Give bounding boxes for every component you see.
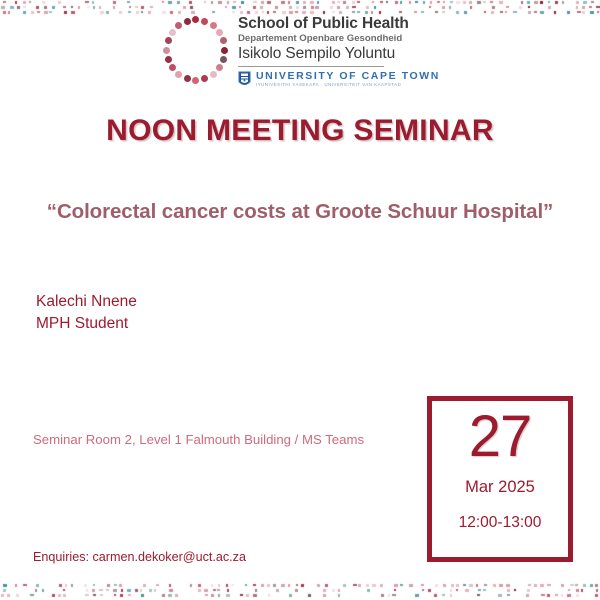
confetti-canvas-bottom	[0, 583, 600, 600]
page-title: NOON MEETING SEMINAR	[0, 114, 600, 148]
uct-name-label: UNIVERSITY OF CAPE TOWN	[256, 71, 440, 82]
seminar-poster: School of Public Health Departement Open…	[0, 0, 600, 600]
date-month-year: Mar 2025	[465, 478, 535, 497]
header-logo-block: School of Public Health Departement Open…	[0, 14, 600, 88]
sph-name-xhosa: Isikolo Sempilo Yoluntu	[238, 45, 440, 62]
logo-divider	[238, 66, 384, 67]
uct-subtitle-label: IYUNIVESITHI YASEKAPA · UNIVERSITEIT VAN…	[256, 83, 440, 87]
speaker-affiliation: MPH Student	[36, 313, 137, 335]
sph-name-afrikaans: Departement Openbare Gesondheid	[238, 33, 440, 45]
date-box: 27 Mar 2025 12:00-13:00	[427, 396, 573, 562]
enquiries-text: Enquiries: carmen.dekoker@uct.ac.za	[33, 550, 246, 564]
dot-ring-icon	[160, 14, 232, 86]
sph-name-english: School of Public Health	[238, 16, 440, 33]
uct-logo-row: UNIVERSITY OF CAPE TOWN IYUNIVESITHI YAS…	[238, 71, 440, 88]
venue-text: Seminar Room 2, Level 1 Falmouth Buildin…	[33, 432, 364, 447]
speaker-block: Kalechi Nnene MPH Student	[36, 291, 137, 336]
bottom-confetti-border	[0, 583, 600, 600]
speaker-name: Kalechi Nnene	[36, 291, 137, 313]
uct-shield-icon	[238, 71, 251, 88]
school-name-text: School of Public Health Departement Open…	[238, 14, 440, 88]
talk-title: “Colorectal cancer costs at Groote Schuu…	[22, 200, 578, 224]
date-time: 12:00-13:00	[459, 514, 542, 532]
date-day: 27	[469, 407, 532, 466]
